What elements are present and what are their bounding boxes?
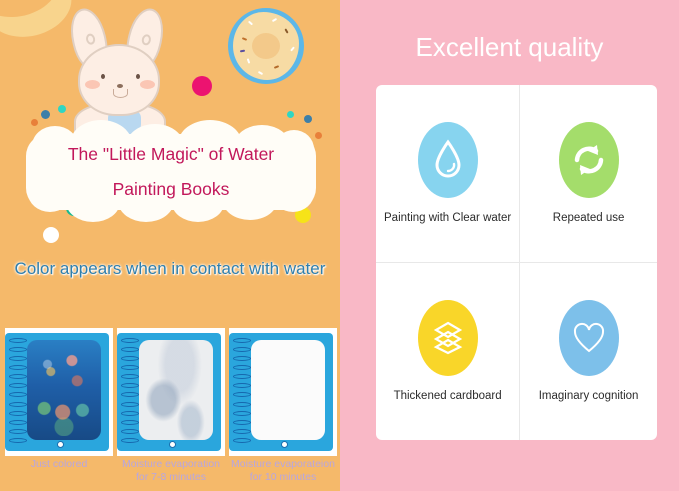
book-demo-item: Moisture evaporateion for 10 minutes xyxy=(229,328,337,483)
feature-label: Imaginary cognition xyxy=(539,390,639,402)
book-snap-dot xyxy=(57,441,64,448)
donut-icon xyxy=(228,8,304,84)
feature-label: Thickened cardboard xyxy=(394,390,502,402)
feature-cell-painting-with-clear-water: Painting with Clear water xyxy=(376,85,520,263)
book-caption: Moisture evaporateion for 10 minutes xyxy=(229,458,337,483)
bunny-icon xyxy=(62,6,180,138)
main-title-line-2: Painting Books xyxy=(113,179,230,200)
subheading-text: Color appears when in contact with water xyxy=(0,258,340,280)
main-title-line-1: The "Little Magic" of Water xyxy=(68,144,274,165)
bunny-head xyxy=(78,44,160,116)
book-caption: Just colored xyxy=(5,458,113,471)
decorative-dot xyxy=(58,105,66,113)
feature-cell-imaginary-cognition: Imaginary cognition xyxy=(520,263,657,441)
feature-cell-repeated-use: Repeated use xyxy=(520,85,657,263)
book-thumbnail-blank xyxy=(229,328,337,456)
quality-feature-grid: Painting with Clear water Repeated use xyxy=(376,85,657,440)
decorative-dot xyxy=(287,111,294,118)
left-panel: The "Little Magic" of Water Painting Boo… xyxy=(0,0,340,491)
book-demo-item: Just colored xyxy=(5,328,113,483)
donut-hole xyxy=(252,33,280,59)
book-page-fading xyxy=(139,340,213,440)
book-caption: Moisture evaporation for 7-8 minutes xyxy=(117,458,225,483)
book-thumbnail-fading xyxy=(117,328,225,456)
book-snap-dot xyxy=(281,441,288,448)
book-thumbnail-colored xyxy=(5,328,113,456)
feature-cell-thickened-cardboard: Thickened cardboard xyxy=(376,263,520,441)
layers-icon xyxy=(418,300,478,376)
right-panel: Excellent quality Painting with Clear wa… xyxy=(340,0,679,491)
water-drop-icon xyxy=(418,122,478,198)
book-page-blank xyxy=(251,340,325,440)
spiral-binding xyxy=(9,338,27,443)
book-snap-dot xyxy=(169,441,176,448)
decorative-dot xyxy=(315,132,322,139)
quality-heading: Excellent quality xyxy=(340,32,679,63)
book-demo-item: Moisture evaporation for 7-8 minutes xyxy=(117,328,225,483)
spiral-binding xyxy=(233,338,251,443)
decorative-dot xyxy=(41,110,50,119)
spiral-binding xyxy=(121,338,139,443)
heart-icon xyxy=(559,300,619,376)
decorative-dot xyxy=(43,227,59,243)
book-page-colored xyxy=(27,340,101,440)
feature-label: Repeated use xyxy=(553,212,625,224)
recycle-icon xyxy=(559,122,619,198)
book-demo-row: Just colored Moisture evaporation for 7-… xyxy=(5,328,339,483)
decorative-dot xyxy=(192,76,212,96)
product-infographic: The "Little Magic" of Water Painting Boo… xyxy=(0,0,679,491)
title-cloud: The "Little Magic" of Water Painting Boo… xyxy=(26,120,316,224)
feature-label: Painting with Clear water xyxy=(384,212,511,224)
